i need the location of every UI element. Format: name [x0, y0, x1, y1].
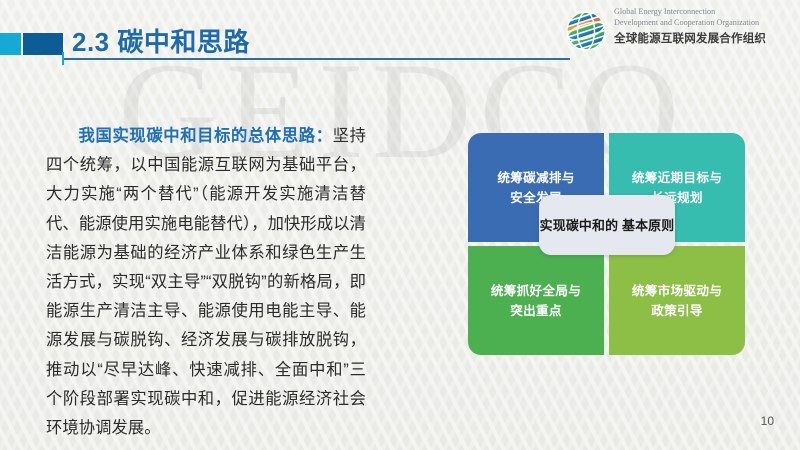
quadrant-bottom-right[interactable]: 统筹市场驱动与 政策引导 [609, 246, 745, 355]
paragraph-rest: 坚持四个统筹，以中国能源互联网为基础平台，大力实施“两个替代”（能源开发实施清洁… [46, 127, 366, 437]
slide-header: 2.3 碳中和思路 [0, 0, 800, 70]
center-label-line-1: 实现碳中和的 [540, 218, 619, 233]
page-title: 2.3 碳中和思路 [72, 22, 250, 59]
principles-quadrant-diagram: 统筹碳减排与 安全发展 统筹近期目标与 长远规划 统筹抓好全局与 突出重点 统筹… [468, 133, 745, 355]
quadrant-top-left-line-1: 统筹碳减排与 [497, 168, 574, 188]
quadrant-bottom-left[interactable]: 统筹抓好全局与 突出重点 [468, 246, 604, 355]
logo-text-block: Global Energy Interconnection Developmen… [614, 7, 796, 46]
center-label-line-2: 基本原则 [622, 218, 674, 233]
quadrant-top-right-line-1: 统筹近期目标与 [632, 168, 722, 188]
globe-icon [564, 9, 608, 53]
geidco-logo: Global Energy Interconnection Developmen… [564, 7, 796, 55]
header-accent-square-navy [23, 33, 63, 55]
header-accent-square-cyan [0, 33, 21, 55]
quadrant-bottom-left-line-1: 统筹抓好全局与 [491, 281, 581, 301]
paragraph-lead-phrase: 我国实现碳中和目标的总体思路： [78, 127, 333, 145]
title-underline [64, 58, 570, 60]
logo-english-line-1: Global Energy Interconnection [614, 7, 796, 18]
logo-chinese-name: 全球能源互联网发展合作组织 [614, 30, 796, 46]
logo-english-line-2: Development and Cooperation Organization [614, 18, 796, 29]
page-number: 10 [761, 414, 774, 428]
quadrant-bottom-right-line-2: 政策引导 [632, 301, 722, 321]
quadrant-bottom-left-line-2: 突出重点 [491, 301, 581, 321]
slide-canvas: GEIDCO 2.3 碳中和思路 [0, 0, 800, 450]
quadrant-bottom-right-line-1: 统筹市场驱动与 [632, 281, 722, 301]
diagram-center-label[interactable]: 实现碳中和的 基本原则 [539, 195, 675, 255]
body-paragraph: 我国实现碳中和目标的总体思路：坚持四个统筹，以中国能源互联网为基础平台，大力实施… [46, 122, 366, 443]
